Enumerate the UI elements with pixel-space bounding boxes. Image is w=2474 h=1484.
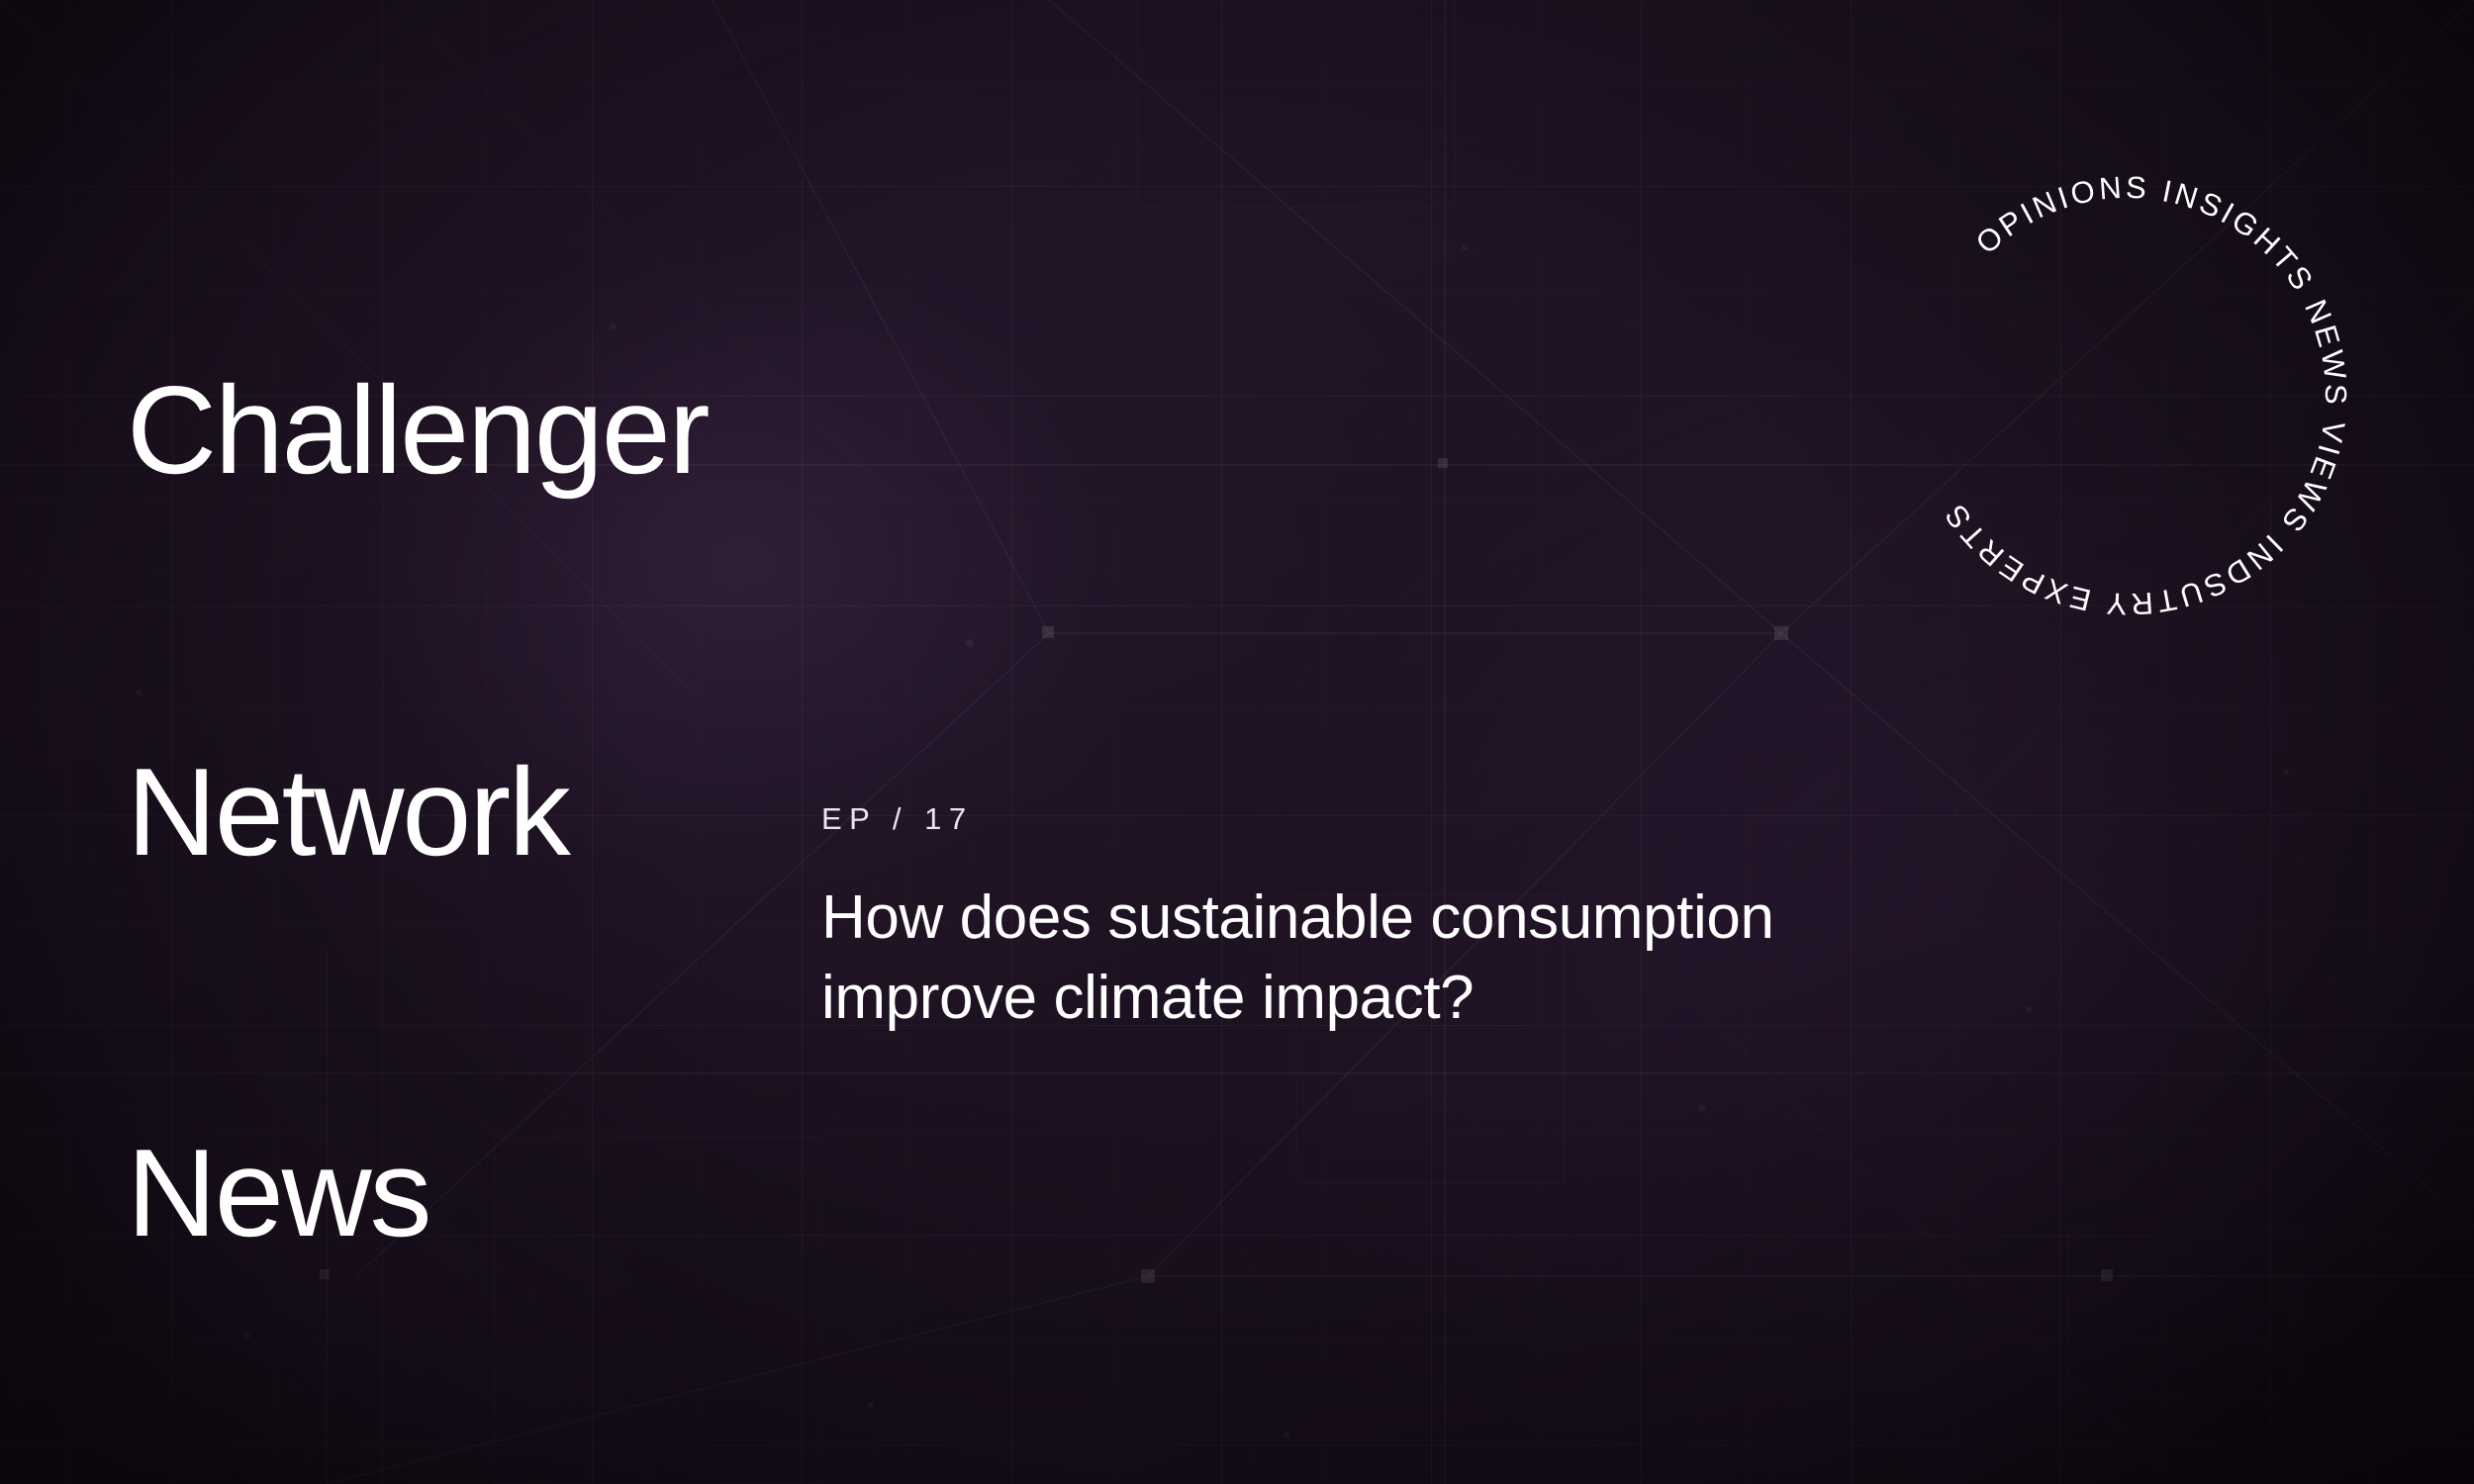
brand-title-line-3: News: [127, 1130, 708, 1257]
circular-badge: OPINIONS INSIGHTS NEWS VIEWS INDSUTRY EX…: [1905, 173, 2350, 618]
episode-title: How does sustainable consumption improve…: [821, 879, 1811, 1038]
episode-label: EP / 17: [821, 801, 1890, 837]
circular-badge-svg: OPINIONS INSIGHTS NEWS VIEWS INDSUTRY EX…: [1905, 173, 2350, 618]
poster-canvas: Challenger Network News EP / 17 How does…: [0, 0, 2474, 1484]
circular-badge-text: OPINIONS INSIGHTS NEWS VIEWS INDSUTRY EX…: [1937, 170, 2353, 622]
brand-title-line-1: Challenger: [127, 367, 708, 495]
episode-block: EP / 17 How does sustainable consumption…: [821, 801, 1890, 1038]
brand-title: Challenger Network News: [127, 113, 708, 1484]
brand-title-line-2: Network: [127, 749, 708, 877]
